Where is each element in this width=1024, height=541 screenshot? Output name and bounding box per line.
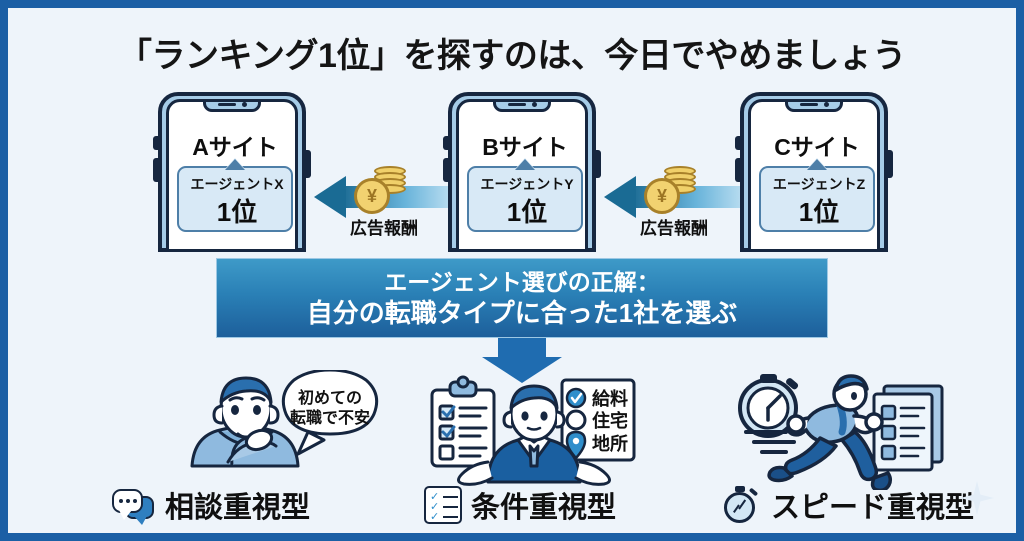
circle-marker-icon [567,411,585,429]
infographic-canvas: 「ランキング1位」を探すのは、今日でやめましょう Aサイト エージェントX 1位 [0,0,1024,541]
documents-icon [874,386,942,470]
criteria-card: 給料 住宅 地所 [562,380,634,460]
bubble-tail-icon [226,158,244,168]
rank-bubble: エージェントZ 1位 [759,166,875,232]
phone-camera-icon [242,102,247,107]
key-message-banner: エージェント選びの正解： 自分の転職タイプに合った1社を選ぶ [216,258,828,338]
yen-symbol: ¥ [647,186,677,207]
conditions-person-illustration: 給料 住宅 地所 [426,370,641,490]
clipboard-icon [432,377,494,466]
phone-notch-icon [203,99,261,112]
phone-button-left-2 [735,158,740,182]
coin-stack-icon: ¥ [642,164,698,216]
rank-bubble: エージェントX 1位 [177,166,293,232]
agent-name: エージェントX [179,174,295,194]
phone-button-right [596,150,601,178]
phone-notch-icon [785,99,843,112]
coin-face: ¥ [354,178,390,214]
coin-face: ¥ [644,178,680,214]
phone-button-right [888,150,893,178]
phone-button-left-1 [443,136,448,150]
phone-notch-icon [493,99,551,112]
rank-value: 1位 [179,192,295,229]
stopwatch-icon [722,485,762,525]
phone-camera-icon [824,102,829,107]
persona-label-speed: スピード重視型 [722,484,974,526]
site-name: Bサイト [459,128,588,162]
banner-line-2: 自分の転職タイプに合った1社を選ぶ [307,297,737,329]
phone-button-left-1 [735,136,740,150]
phone-button-right [306,150,311,178]
persona-label-conditions: ✓ ✓ ✓ 条件重視型 [424,484,616,526]
rank-value: 1位 [469,192,585,229]
worried-person-illustration: 初めての 転職で不安 [158,370,388,490]
criteria-text-2: 地所 [592,433,628,454]
banner-line-1: エージェント選びの正解： [384,267,660,297]
persona-label-text: 相談重視型 [165,484,310,526]
criteria-text-1: 住宅 [592,410,628,431]
flow-label: 広告報酬 [314,214,454,239]
phone-button-left-2 [443,158,448,182]
checklist-icon: ✓ ✓ ✓ [424,486,462,524]
flow-arrowhead-icon [604,176,636,218]
criteria-text-0: 給料 [592,388,628,409]
ad-revenue-flow-1: ¥ 広告報酬 [314,168,454,248]
phone-card-b: Bサイト エージェントY 1位 [448,92,596,252]
phone-screen: Aサイト エージェントX 1位 [166,99,298,252]
check-marker-icon [567,389,585,407]
phone-card-a: Aサイト エージェントX 1位 [158,92,306,252]
phone-screen: Cサイト エージェントZ 1位 [748,99,880,252]
phone-button-left-1 [153,136,158,150]
running-person-illustration [726,370,956,490]
phone-button-left-2 [153,158,158,182]
yen-symbol: ¥ [357,186,387,207]
bubble-tail-icon [808,158,826,168]
phone-camera-icon [532,102,537,107]
infographic-inner: 「ランキング1位」を探すのは、今日でやめましょう Aサイト エージェントX 1位 [8,8,1016,533]
site-name: Aサイト [169,128,298,162]
speech-line-2: 転職で不安 [290,408,370,427]
persona-label-text: スピード重視型 [771,484,974,526]
persona-consultation: 初めての 転職で不安 [158,370,388,495]
bubble-tail-icon [516,158,534,168]
persona-conditions: 給料 住宅 地所 [426,370,641,495]
flow-label: 広告報酬 [604,214,744,239]
agent-name: エージェントZ [761,174,877,194]
phone-screen: Bサイト エージェントY 1位 [456,99,588,252]
persona-label-consultation: 相談重視型 [112,484,310,526]
persona-speed [726,370,956,495]
speech-line-1: 初めての [298,388,362,407]
rank-value: 1位 [761,192,877,229]
page-title: 「ランキング1位」を探すのは、今日でやめましょう [8,28,1016,77]
phone-speaker-icon [800,103,818,106]
rank-bubble: エージェントY 1位 [467,166,583,232]
phone-speaker-icon [508,103,526,106]
site-name: Cサイト [751,128,880,162]
phone-speaker-icon [218,103,236,106]
chat-bubbles-icon [112,487,156,523]
coin-stack-icon: ¥ [352,164,408,216]
ad-revenue-flow-2: ¥ 広告報酬 [604,168,744,248]
persona-label-text: 条件重視型 [471,484,616,526]
phone-card-c: Cサイト エージェントZ 1位 [740,92,888,252]
flow-arrowhead-icon [314,176,346,218]
agent-name: エージェントY [469,174,585,194]
